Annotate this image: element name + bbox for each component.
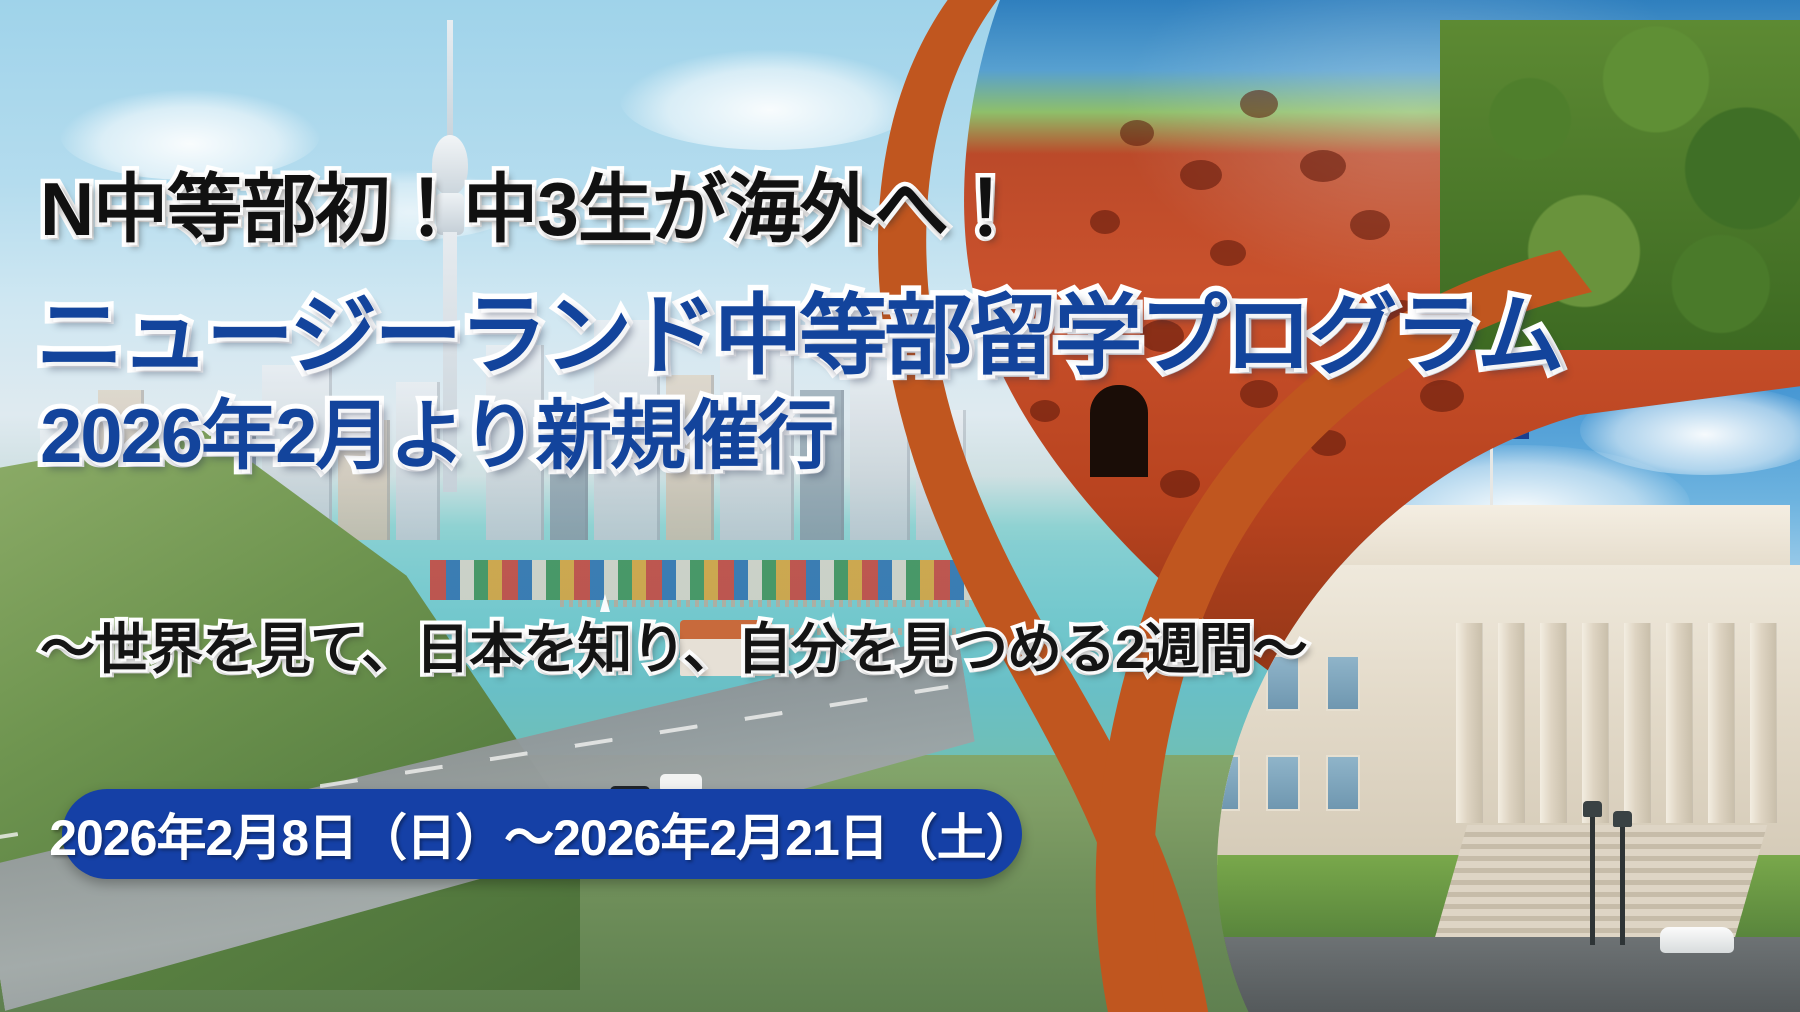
banner-text-layer: N中等部初！中3生が海外へ！ ニュージーランド中等部留学プログラム 2026年2… (0, 0, 1800, 1012)
program-start-subtitle: 2026年2月より新規催行 (40, 399, 832, 475)
tagline-text: 〜世界を見て、日本を知り、自分を見つめる2週間〜 (40, 622, 1307, 677)
headline-text: N中等部初！中3生が海外へ！ (40, 172, 1022, 247)
program-title: ニュージーランド中等部留学プログラム (36, 292, 1562, 380)
date-badge: 2026年2月8日（日）〜2026年2月21日（土） (62, 789, 1022, 879)
study-abroad-promo-banner: N中等部初！中3生が海外へ！ ニュージーランド中等部留学プログラム 2026年2… (0, 0, 1800, 1012)
date-range-text: 2026年2月8日（日）〜2026年2月21日（土） (49, 798, 1035, 870)
